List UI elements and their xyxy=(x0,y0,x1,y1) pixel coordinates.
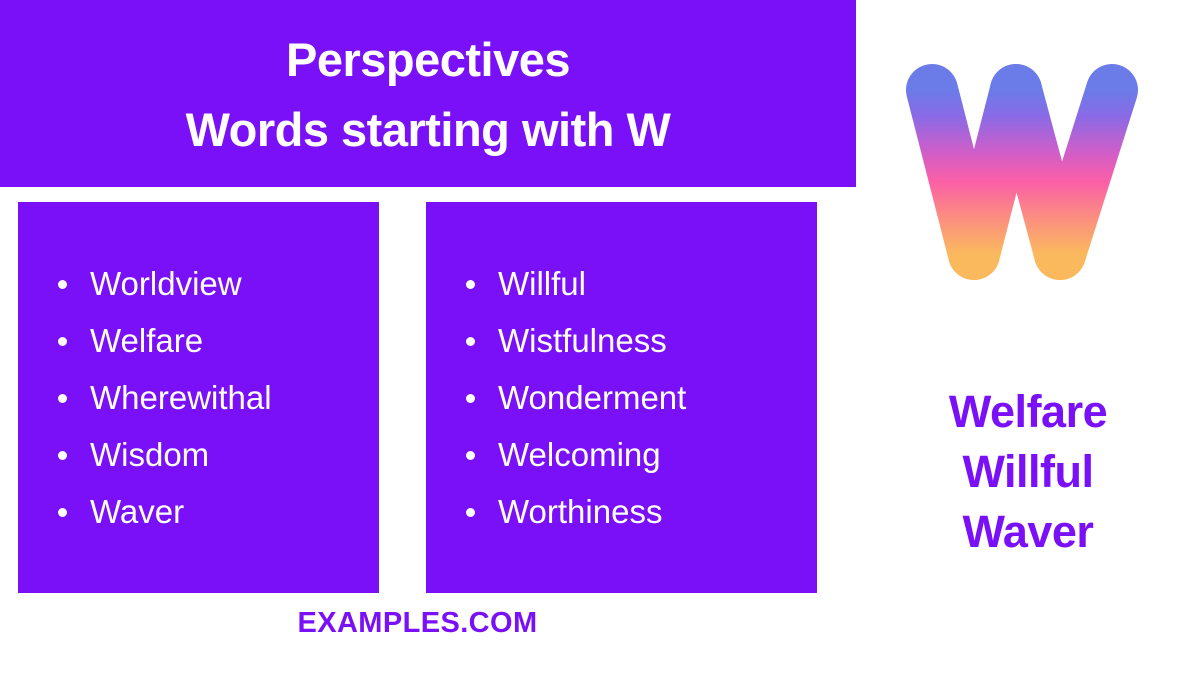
list-item-label: Welfare xyxy=(90,322,203,359)
bullet-icon xyxy=(58,508,67,517)
bullet-icon xyxy=(466,280,475,289)
word-panel-right: Willful Wistfulness Wonderment Welcoming… xyxy=(426,202,817,593)
sidebar: Welfare Willful Waver xyxy=(856,0,1200,675)
list-item-label: Worthiness xyxy=(498,493,662,530)
word-panel-left: Worldview Welfare Wherewithal Wisdom Wav… xyxy=(18,202,379,593)
bullet-icon xyxy=(58,280,67,289)
list-item: Waver xyxy=(58,483,379,540)
footer-brand: EXAMPLES.COM xyxy=(18,607,817,640)
header-title-secondary: Words starting with W xyxy=(186,102,671,158)
list-item: Wisdom xyxy=(58,426,379,483)
list-item: Wonderment xyxy=(466,369,817,426)
poster-canvas: Perspectives Words starting with W World… xyxy=(0,0,1200,675)
list-item-label: Waver xyxy=(90,493,184,530)
highlight-word: Waver xyxy=(868,502,1188,562)
list-item: Worldview xyxy=(58,255,379,312)
bullet-icon xyxy=(466,508,475,517)
list-item-label: Wherewithal xyxy=(90,379,272,416)
bullet-icon xyxy=(466,451,475,460)
highlight-word: Welfare xyxy=(868,382,1188,442)
bullet-icon xyxy=(466,337,475,346)
list-item: Welcoming xyxy=(466,426,817,483)
list-item: Welfare xyxy=(58,312,379,369)
header-title-primary: Perspectives xyxy=(286,32,570,88)
word-list-left: Worldview Welfare Wherewithal Wisdom Wav… xyxy=(58,255,379,540)
list-item: Wherewithal xyxy=(58,369,379,426)
list-item: Wistfulness xyxy=(466,312,817,369)
list-item-label: Wisdom xyxy=(90,436,209,473)
bullet-icon xyxy=(58,451,67,460)
list-item-label: Willful xyxy=(498,265,586,302)
list-item-label: Wistfulness xyxy=(498,322,667,359)
bullet-icon xyxy=(466,394,475,403)
bullet-icon xyxy=(58,394,67,403)
list-item: Willful xyxy=(466,255,817,312)
letter-w-gradient-icon xyxy=(902,62,1142,282)
list-item-label: Welcoming xyxy=(498,436,661,473)
word-list-right: Willful Wistfulness Wonderment Welcoming… xyxy=(466,255,817,540)
highlight-words: Welfare Willful Waver xyxy=(868,382,1188,562)
list-item-label: Wonderment xyxy=(498,379,686,416)
list-item: Worthiness xyxy=(466,483,817,540)
highlight-word: Willful xyxy=(868,442,1188,502)
list-item-label: Worldview xyxy=(90,265,242,302)
bullet-icon xyxy=(58,337,67,346)
header-band: Perspectives Words starting with W xyxy=(0,0,856,187)
